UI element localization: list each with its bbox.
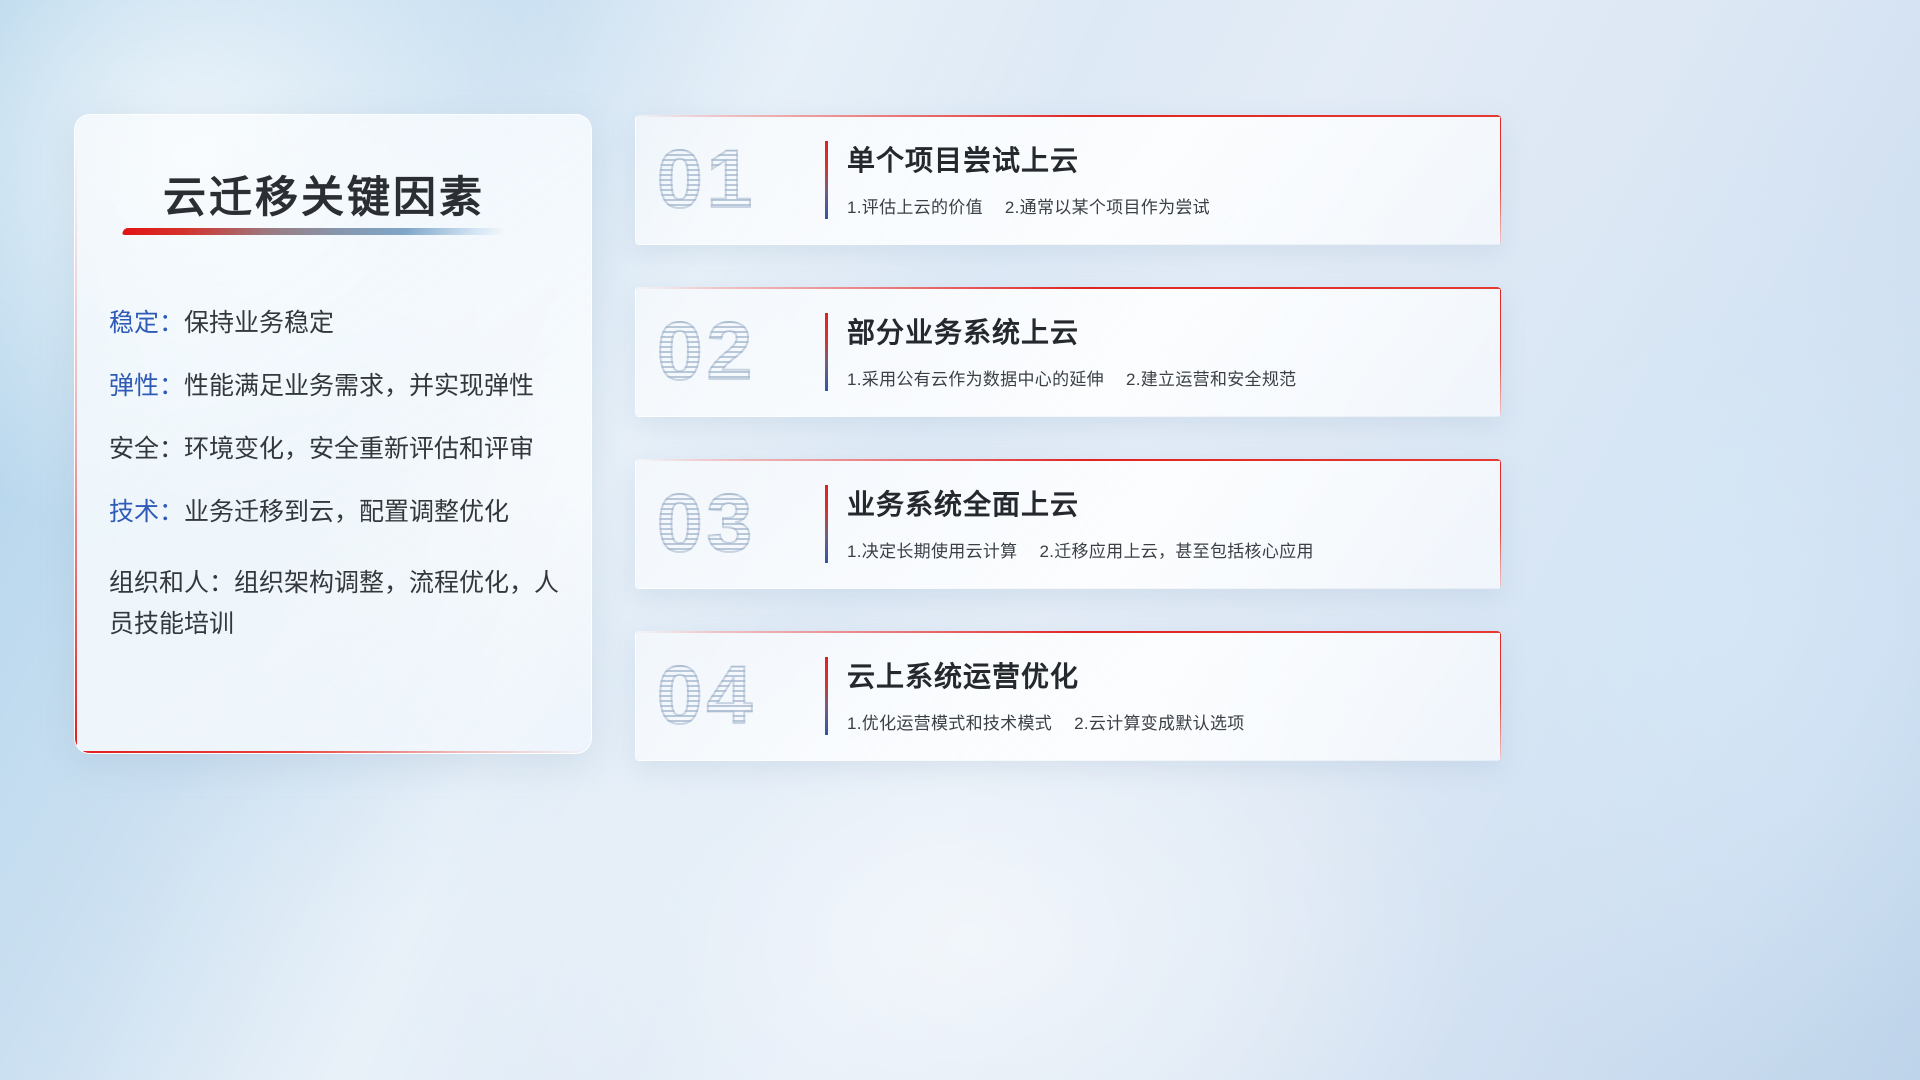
card-description: 1.评估上云的价值2.通常以某个项目作为尝试 <box>847 193 1477 218</box>
slide-canvas: 云迁移关键因素 稳定：保持业务稳定 弹性：性能满足业务需求，并实现弹性 安全：环… <box>0 0 1920 1080</box>
accent-bar <box>825 485 828 563</box>
card-description: 1.优化运营模式和技术模式2.云计算变成默认选项 <box>847 709 1477 734</box>
card-title: 部分业务系统上云 <box>847 311 1477 351</box>
card-title: 业务系统全面上云 <box>847 483 1477 523</box>
card-body: 业务系统全面上云 1.决定长期使用云计算2.迁移应用上云，甚至包括核心应用 <box>847 483 1477 562</box>
stage-number: 01 <box>657 139 756 221</box>
card-left-edge <box>635 631 636 761</box>
card-title: 单个项目尝试上云 <box>847 139 1477 179</box>
factor-text: 保持业务稳定 <box>184 309 334 337</box>
card-description-item-2: 2.云计算变成默认选项 <box>1074 714 1244 733</box>
factor-label: 弹性： <box>109 372 184 400</box>
stage-card-02[interactable]: 02 部分业务系统上云 1.采用公有云作为数据中心的延伸2.建立运营和安全规范 <box>635 287 1501 417</box>
list-item: 稳定：保持业务稳定 <box>109 311 571 336</box>
card-description-item-1: 1.优化运营模式和技术模式 <box>847 714 1052 733</box>
card-left-edge <box>635 459 636 589</box>
factor-label: 技术： <box>109 498 184 526</box>
key-factors-panel: 云迁移关键因素 稳定：保持业务稳定 弹性：性能满足业务需求，并实现弹性 安全：环… <box>74 114 592 754</box>
stage-number: 04 <box>657 655 756 737</box>
list-item: 组织和人：组织架构调整，流程优化，人员技能培训 <box>109 563 571 644</box>
stage-number: 02 <box>657 311 756 393</box>
card-description-item-2: 2.迁移应用上云，甚至包括核心应用 <box>1039 542 1313 561</box>
factor-label: 稳定： <box>109 309 184 337</box>
factor-text: 业务迁移到云，配置调整优化 <box>184 498 509 526</box>
card-left-edge <box>635 115 636 245</box>
factor-label: 组织和人： <box>109 569 234 597</box>
factor-text: 环境变化，安全重新评估和评审 <box>184 435 534 463</box>
card-bottom-edge <box>635 416 1501 417</box>
card-body: 单个项目尝试上云 1.评估上云的价值2.通常以某个项目作为尝试 <box>847 139 1477 218</box>
stage-card-01[interactable]: 01 单个项目尝试上云 1.评估上云的价值2.通常以某个项目作为尝试 <box>635 115 1501 245</box>
card-description-item-1: 1.采用公有云作为数据中心的延伸 <box>847 370 1104 389</box>
background-glow-right <box>1340 120 1920 1080</box>
card-title: 云上系统运营优化 <box>847 655 1477 695</box>
card-description-item-1: 1.决定长期使用云计算 <box>847 542 1017 561</box>
card-bottom-edge <box>635 244 1501 245</box>
card-description: 1.采用公有云作为数据中心的延伸2.建立运营和安全规范 <box>847 365 1477 390</box>
card-body: 云上系统运营优化 1.优化运营模式和技术模式2.云计算变成默认选项 <box>847 655 1477 734</box>
card-description: 1.决定长期使用云计算2.迁移应用上云，甚至包括核心应用 <box>847 537 1477 562</box>
factor-list: 稳定：保持业务稳定 弹性：性能满足业务需求，并实现弹性 安全：环境变化，安全重新… <box>109 311 571 682</box>
card-body: 部分业务系统上云 1.采用公有云作为数据中心的延伸2.建立运营和安全规范 <box>847 311 1477 390</box>
accent-bar <box>825 141 828 219</box>
accent-bar <box>825 657 828 735</box>
list-item: 弹性：性能满足业务需求，并实现弹性 <box>109 374 571 399</box>
stage-card-04[interactable]: 04 云上系统运营优化 1.优化运营模式和技术模式2.云计算变成默认选项 <box>635 631 1501 761</box>
card-description-item-1: 1.评估上云的价值 <box>847 198 983 217</box>
factor-label: 安全： <box>109 435 184 463</box>
card-left-edge <box>635 287 636 417</box>
list-item: 安全：环境变化，安全重新评估和评审 <box>109 437 571 462</box>
stage-number: 03 <box>657 483 756 565</box>
accent-bar <box>825 313 828 391</box>
card-description-item-2: 2.建立运营和安全规范 <box>1126 370 1296 389</box>
stage-card-03[interactable]: 03 业务系统全面上云 1.决定长期使用云计算2.迁移应用上云，甚至包括核心应用 <box>635 459 1501 589</box>
title-underline-bar <box>121 228 506 235</box>
card-bottom-edge <box>635 588 1501 589</box>
factor-text: 性能满足业务需求，并实现弹性 <box>184 372 534 400</box>
page-title: 云迁移关键因素 <box>163 163 485 225</box>
card-bottom-edge <box>635 760 1501 761</box>
list-item: 技术：业务迁移到云，配置调整优化 <box>109 500 571 525</box>
card-description-item-2: 2.通常以某个项目作为尝试 <box>1005 198 1210 217</box>
